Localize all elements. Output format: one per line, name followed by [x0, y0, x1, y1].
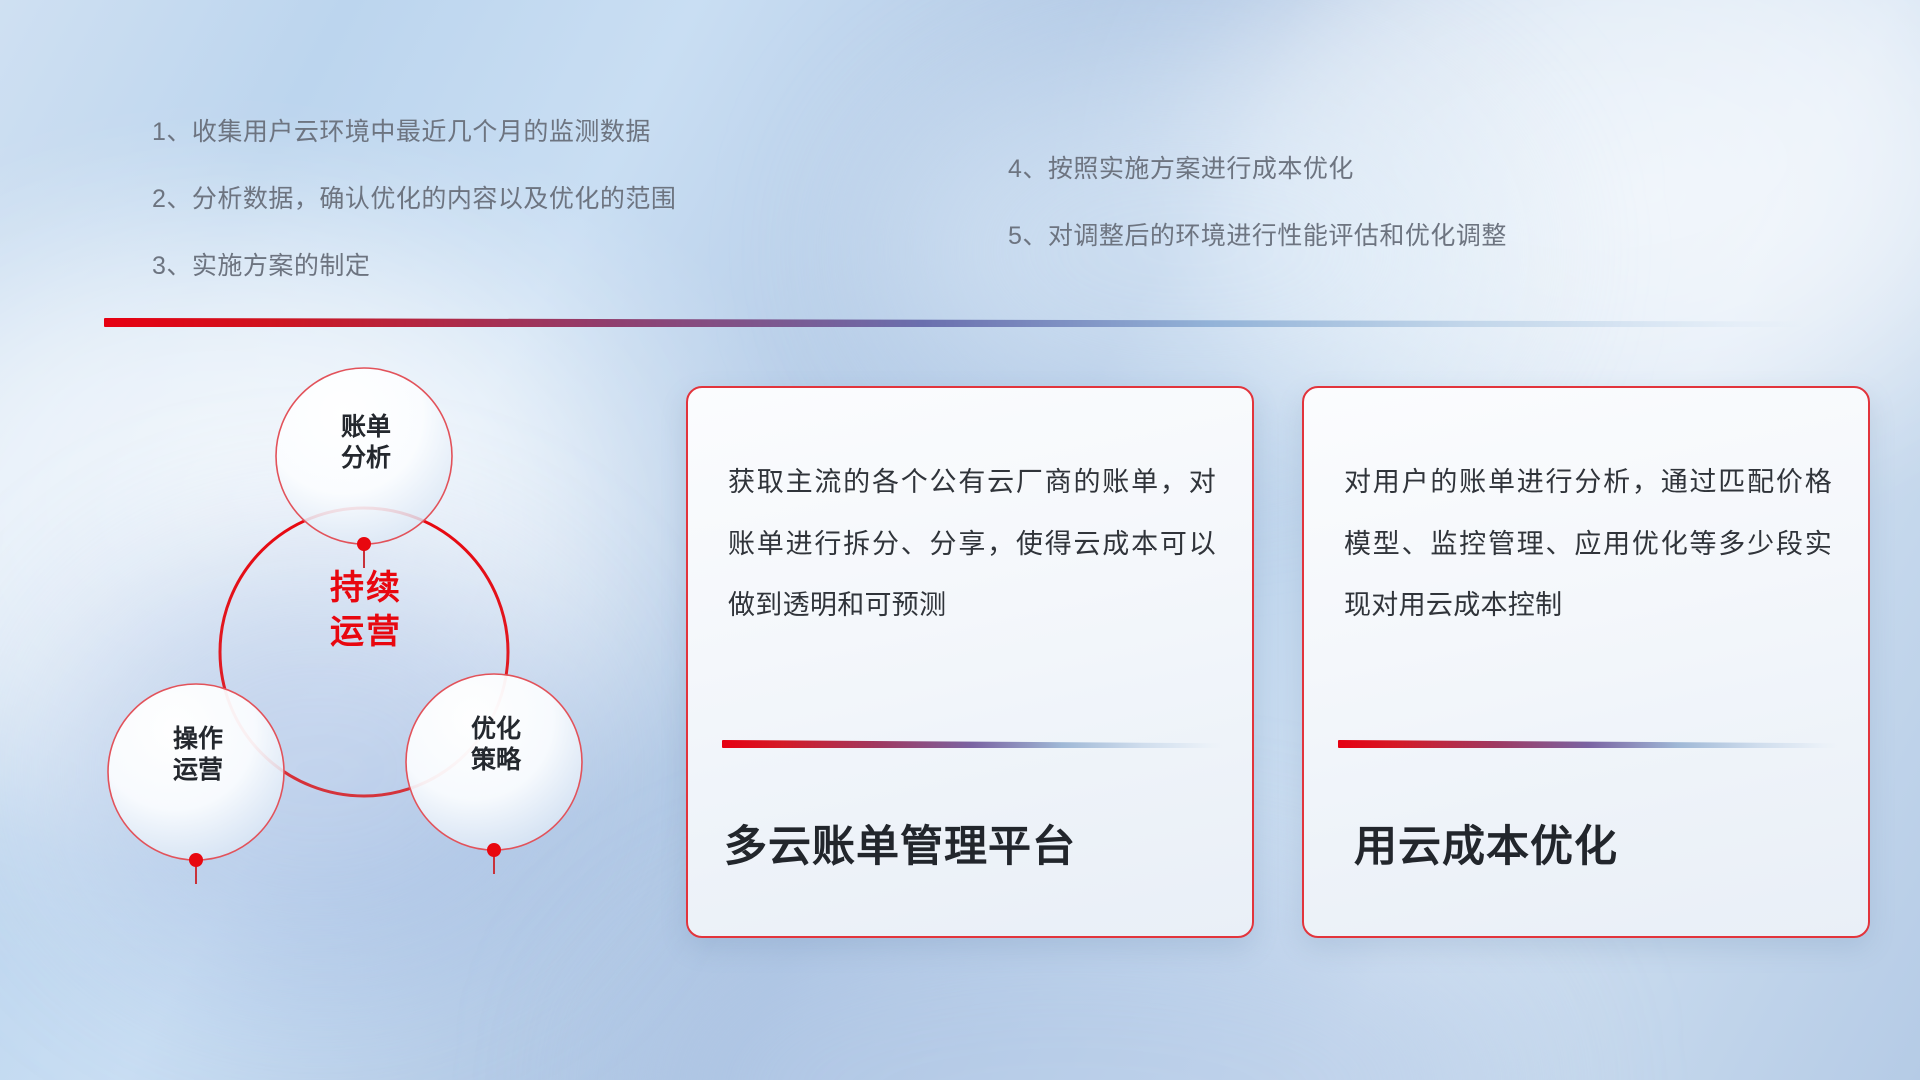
step-item-3: 3、实施方案的制定: [152, 254, 676, 279]
section-divider-rule: [104, 318, 1808, 327]
connector-dot-left: [189, 853, 203, 867]
card-title: 用云成本优化: [1340, 812, 1838, 874]
card-accent-rule: [1338, 740, 1838, 748]
step-item-1: 1、收集用户云环境中最近几个月的监测数据: [152, 120, 676, 145]
connector-dot-top: [357, 537, 371, 551]
card-title: 多云账单管理平台: [724, 812, 1222, 874]
step-item-5: 5、对调整后的环境进行性能评估和优化调整: [1008, 224, 1507, 249]
card-body-text: 对用户的账单进行分析，通过匹配价格模型、监控管理、应用优化等多少段实现对用云成本…: [1344, 452, 1832, 637]
steps-right-column: 4、按照实施方案进行成本优化 5、对调整后的环境进行性能评估和优化调整: [1008, 157, 1507, 291]
step-item-2: 2、分析数据，确认优化的内容以及优化的范围: [152, 187, 676, 212]
venn-label-operations: 操作 运营: [128, 724, 268, 785]
venn-label-continuous-operations: 持续 运营: [276, 566, 456, 654]
card-accent-rule: [722, 740, 1222, 748]
step-item-4: 4、按照实施方案进行成本优化: [1008, 157, 1507, 182]
venn-label-billing-analysis: 账单 分析: [296, 412, 436, 473]
feature-card-multi-cloud-billing-platform[interactable]: 获取主流的各个公有云厂商的账单，对账单进行拆分、分享，使得云成本可以做到透明和可…: [686, 386, 1254, 938]
connector-dot-right: [487, 843, 501, 857]
steps-left-column: 1、收集用户云环境中最近几个月的监测数据 2、分析数据，确认优化的内容以及优化的…: [152, 120, 676, 321]
continuous-operations-diagram: 账单 分析 操作 运营 优化 策略 持续 运营: [96, 352, 616, 952]
venn-label-optimization-policy: 优化 策略: [426, 714, 566, 775]
feature-card-cloud-cost-optimization[interactable]: 对用户的账单进行分析，通过匹配价格模型、监控管理、应用优化等多少段实现对用云成本…: [1302, 386, 1870, 938]
slide-canvas: 1、收集用户云环境中最近几个月的监测数据 2、分析数据，确认优化的内容以及优化的…: [0, 0, 1920, 1080]
card-body-text: 获取主流的各个公有云厂商的账单，对账单进行拆分、分享，使得云成本可以做到透明和可…: [728, 452, 1216, 637]
